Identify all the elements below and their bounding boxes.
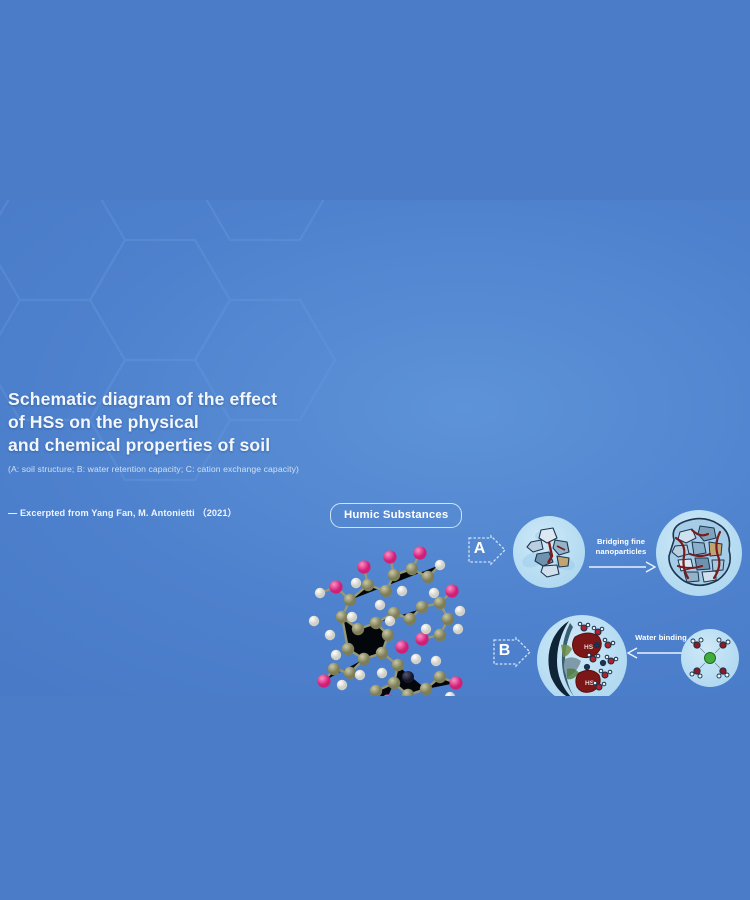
attribution-citation: — Excerpted from Yang Fan, M. Antonietti… bbox=[8, 505, 338, 519]
text-block: Schematic diagram of the effect of HSs o… bbox=[8, 388, 338, 519]
subtitle-legend: (A: soil structure; B: water retention c… bbox=[8, 463, 338, 475]
circle-loose-soil-aggregate bbox=[513, 516, 585, 588]
row-tag-b: B bbox=[492, 636, 526, 666]
circle-humic-substance-mineral-water: HS HS bbox=[537, 615, 627, 696]
row-a-process-label: Bridging fine nanoparticles bbox=[586, 537, 656, 556]
svg-text:HS: HS bbox=[584, 644, 594, 651]
circle-hydrated-cation bbox=[681, 629, 739, 687]
circle-bridged-soil-aggregate bbox=[656, 510, 742, 596]
illustration-panel: Schematic diagram of the effect of HSs o… bbox=[0, 200, 750, 696]
page-title-line-3: and chemical properties of soil bbox=[8, 434, 338, 457]
row-tag-b-letter: B bbox=[492, 636, 517, 666]
row-b-flow-arrow-left bbox=[627, 646, 689, 660]
page-title-line-2: of HSs on the physical bbox=[8, 411, 338, 434]
row-tag-a-letter: A bbox=[467, 534, 492, 564]
page-title-line-1: Schematic diagram of the effect bbox=[8, 388, 338, 411]
row-a-flow-arrow-right bbox=[588, 560, 656, 574]
row-tag-a: A bbox=[467, 534, 501, 564]
humic-substance-molecule-model bbox=[290, 525, 490, 696]
